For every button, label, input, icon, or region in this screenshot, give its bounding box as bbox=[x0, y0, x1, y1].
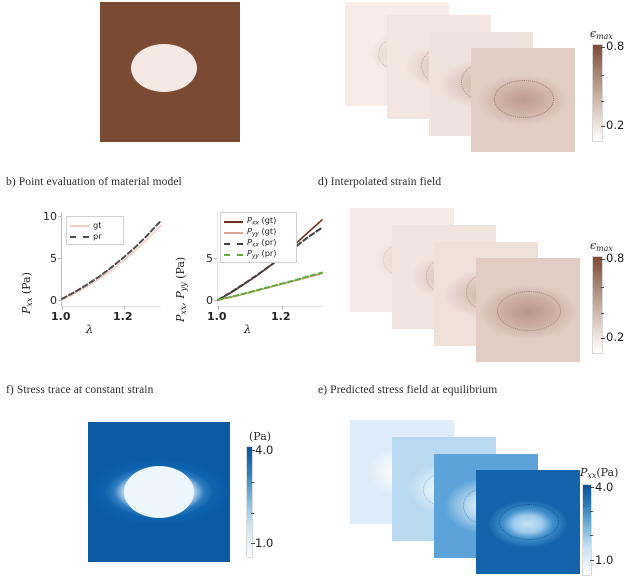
legend-label-gt: gt bbox=[93, 220, 101, 230]
colorbar-tickmark-top-mid2 bbox=[601, 101, 604, 102]
stress-pred-colorbar bbox=[582, 484, 590, 574]
legend-row-pxx-pr: Pxx (pr) bbox=[224, 237, 292, 248]
legend-label-pxx-pr: Pxx (pr) bbox=[247, 237, 276, 248]
caption-panel-e: e) Predicted stress field at equilibrium bbox=[318, 384, 497, 396]
strain-colorbar-top bbox=[592, 44, 601, 140]
colorbar-tickmark-e-low bbox=[590, 560, 594, 561]
colorbar-ticklabel-f-high: 4.0 bbox=[255, 443, 273, 457]
series-Pyy_pr bbox=[218, 273, 322, 300]
colorbar-ticklabel-f-low: 1.0 bbox=[255, 536, 273, 550]
colorbar-ticklabel-top-high: 0.8 bbox=[606, 39, 624, 53]
plot-b-right-legend: Pxx (gt) Pyy (gt) Pxx (pr) Pyy (pr) bbox=[220, 212, 297, 263]
interp-strain-frame-4 bbox=[476, 258, 580, 362]
plot-b-right-xlabel: λ bbox=[244, 322, 251, 336]
colorbar-tickmark-mid-m2 bbox=[601, 313, 604, 314]
stress-trace-colorbar bbox=[246, 446, 251, 556]
legend-row-pr: pr bbox=[70, 230, 119, 241]
colorbar-title-stress-pred: Pxx(Pa) bbox=[580, 466, 618, 480]
plot-b-right-xtick-10: 1.0 bbox=[207, 310, 227, 323]
colorbar-tickmark-mid-high bbox=[601, 259, 605, 260]
stress-trace-inclusion bbox=[124, 466, 194, 518]
legend-row-gt: gt bbox=[70, 219, 119, 230]
colorbar-tickmark-top-high bbox=[601, 47, 605, 48]
colorbar-tickmark-e-m1 bbox=[590, 511, 593, 512]
colorbar-pred-title-subscript: xx bbox=[587, 471, 596, 480]
plot-b-left-xtick-12: 1.2 bbox=[113, 310, 133, 323]
legend-row-pyy-gt: Pyy (gt) bbox=[224, 226, 292, 237]
colorbar-tickmark-mid-m1 bbox=[601, 287, 604, 288]
stress-frame-4 bbox=[476, 470, 580, 574]
plot-pxx-vs-lambda: Pxx (Pa) 10 5 0 1.0 1.2 λ gt pr bbox=[14, 210, 164, 335]
colorbar-tickmark-top-mid1 bbox=[601, 75, 604, 76]
colorbar-tickmark-f-m2 bbox=[251, 513, 254, 514]
colorbar-tickmark-e-high bbox=[590, 487, 594, 488]
plot-pxx-pyy-vs-lambda: Pxx, Pyy (Pa) 5 0 1.0 1.2 λ Pxx (gt) Pyy… bbox=[168, 210, 328, 335]
predicted-stress-stack bbox=[350, 412, 580, 577]
colorbar-ticklabel-e-low: 1.0 bbox=[595, 553, 613, 567]
colorbar-ticklabel-mid-low: 0.2 bbox=[606, 330, 624, 344]
legend-label-pxx-gt: Pxx (gt) bbox=[247, 215, 276, 226]
colorbar-tickmark-f-m1 bbox=[251, 482, 254, 483]
strain-field-stack-top bbox=[345, 0, 575, 160]
plot-b-left-xtick-10: 1.0 bbox=[51, 310, 71, 323]
colorbar-ticklabel-top-low: 0.2 bbox=[606, 118, 624, 132]
material-image-panel bbox=[100, 2, 240, 142]
legend-row-pyy-pr: Pyy (pr) bbox=[224, 248, 292, 259]
strain-colorbar-top-group: ϵmax 0.8 0.2 bbox=[588, 28, 640, 148]
caption-panel-d: d) Interpolated strain field bbox=[318, 176, 441, 188]
legend-label-pyy-pr: Pyy (pr) bbox=[247, 248, 276, 259]
caption-panel-b: b) Point evaluation of material model bbox=[6, 176, 182, 188]
colorbar-title-stress-trace: (Pa) bbox=[249, 430, 271, 443]
colorbar-pred-title-unit: (Pa) bbox=[596, 466, 618, 479]
caption-panel-f: f) Stress trace at constant strain bbox=[6, 384, 153, 396]
strain-colorbar-mid bbox=[592, 256, 601, 352]
stress-trace-image bbox=[88, 422, 230, 562]
strain-colorbar-mid-group: ϵmax 0.8 0.2 bbox=[588, 240, 640, 360]
legend-label-pr: pr bbox=[93, 231, 102, 241]
plot-b-left-xlabel: λ bbox=[86, 322, 93, 336]
interpolated-strain-stack bbox=[350, 200, 580, 365]
legend-label-pyy-gt: Pyy (gt) bbox=[247, 226, 276, 237]
plot-b-left-legend: gt pr bbox=[66, 216, 124, 245]
colorbar-tickmark-top-low bbox=[601, 126, 605, 127]
strain-frame-4 bbox=[471, 48, 575, 152]
legend-row-pxx-gt: Pxx (gt) bbox=[224, 215, 292, 226]
colorbar-ticklabel-e-high: 4.0 bbox=[595, 480, 613, 494]
material-inclusion-ellipse bbox=[131, 44, 197, 92]
colorbar-tickmark-e-m2 bbox=[590, 535, 593, 536]
colorbar-tickmark-mid-low bbox=[601, 338, 605, 339]
plot-b-right-xtick-12: 1.2 bbox=[271, 310, 291, 323]
stress-trace-colorbar-group: (Pa) 4.0 1.0 bbox=[243, 430, 303, 565]
stress-pred-colorbar-group: Pxx(Pa) 4.0 1.0 bbox=[578, 468, 640, 578]
colorbar-ticklabel-mid-high: 0.8 bbox=[606, 251, 624, 265]
